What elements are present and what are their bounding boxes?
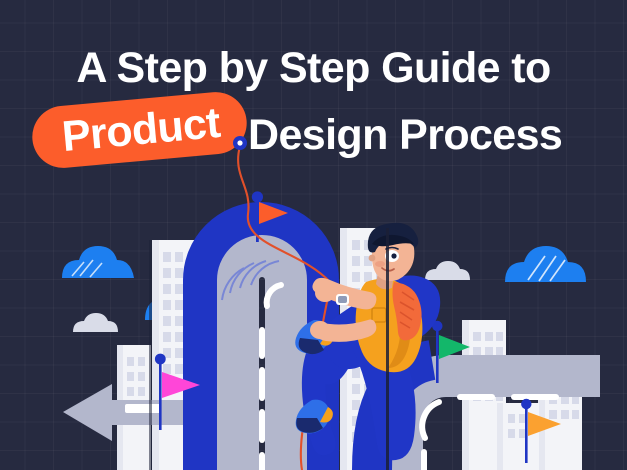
character-ear [369, 255, 376, 262]
character-watch [336, 294, 349, 305]
character-hand-lower [310, 321, 330, 339]
character-cheek [375, 261, 385, 267]
cloud-white-small-left [73, 313, 118, 332]
cloud-blue-far-left [62, 246, 134, 278]
poster-canvas: A Step by Step Guide to Product Design P… [0, 0, 627, 470]
cloud-blue-right [505, 246, 586, 282]
building-small-right [497, 403, 539, 470]
character-hand-upper [315, 284, 335, 302]
cloud-white-small-mid [425, 261, 470, 280]
character-pupil [391, 253, 396, 258]
illustration-scene [0, 0, 627, 470]
